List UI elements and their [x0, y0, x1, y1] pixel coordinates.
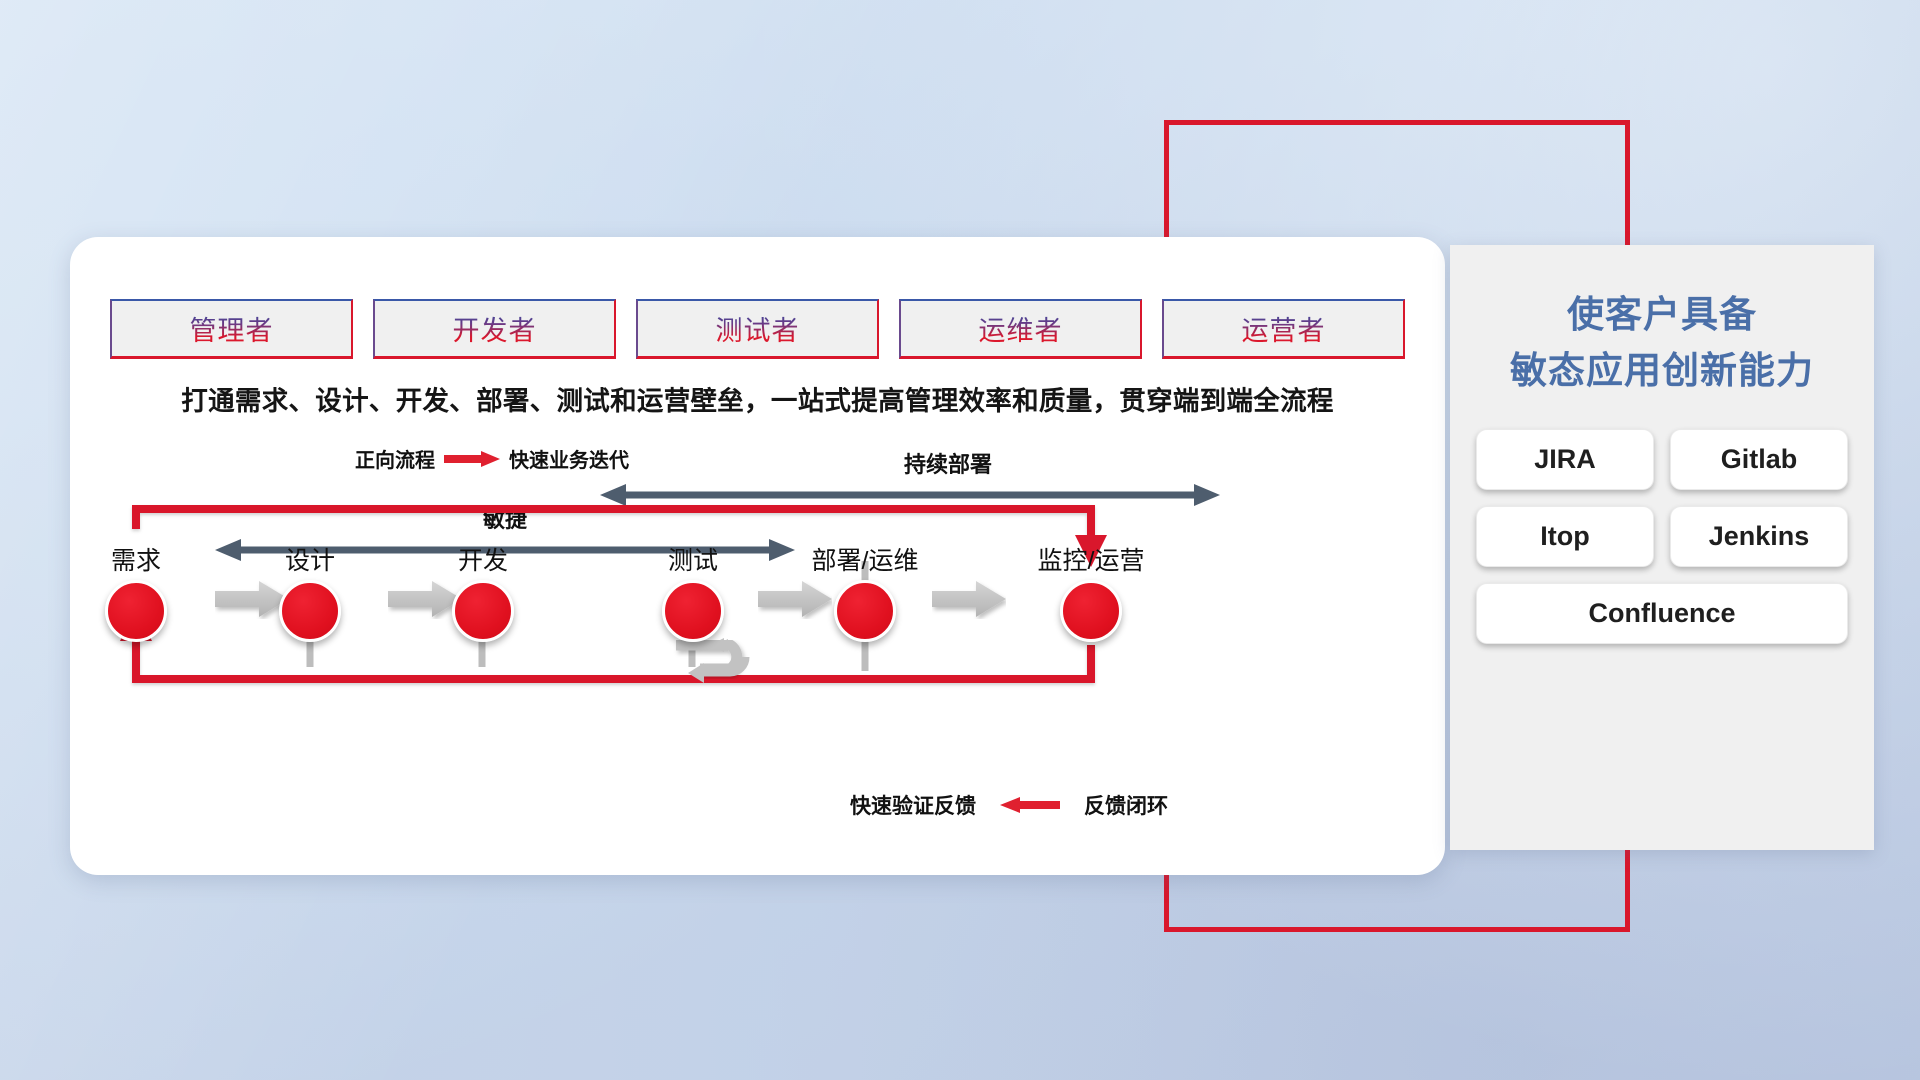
red-arrow-left-icon	[1000, 797, 1060, 813]
panel-title-line1: 使客户具备	[1476, 287, 1848, 343]
flow-node-label: 部署/运维	[810, 541, 920, 577]
flow-node-circle	[834, 580, 896, 642]
flow-node-requirement[interactable]: 需求	[81, 541, 191, 642]
flow-node-label: 开发	[428, 541, 538, 577]
flow-node-development[interactable]: 开发	[428, 541, 538, 642]
gray-arrow-4-icon	[932, 579, 1006, 619]
tool-chip-list: JIRA Gitlab Itop Jenkins Confluence	[1476, 429, 1848, 644]
flow-node-circle	[105, 580, 167, 642]
tool-chip-confluence[interactable]: Confluence	[1476, 583, 1848, 644]
capability-panel: 使客户具备 敏态应用创新能力 JIRA Gitlab Itop Jenkins …	[1450, 245, 1874, 850]
flow-node-design[interactable]: 设计	[255, 541, 365, 642]
flow-node-label: 设计	[255, 541, 365, 577]
flow-node-circle	[279, 580, 341, 642]
flow-node-label: 测试	[638, 541, 748, 577]
flow-node-label: 需求	[81, 541, 191, 577]
feedback-loop-legend: 快速验证反馈 反馈闭环	[850, 790, 1168, 820]
tool-chip-itop[interactable]: Itop	[1476, 506, 1654, 567]
tool-chip-jira[interactable]: JIRA	[1476, 429, 1654, 490]
flow-node-testing[interactable]: 测试	[638, 541, 748, 642]
flow-node-deploy-ops[interactable]: 部署/运维	[810, 541, 920, 642]
tool-chip-jenkins[interactable]: Jenkins	[1670, 506, 1848, 567]
flow-node-circle	[452, 580, 514, 642]
flow-node-circle	[662, 580, 724, 642]
feedback-source-label: 反馈闭环	[1084, 790, 1168, 820]
flow-node-monitor-operations[interactable]: 监控/运营	[1036, 541, 1146, 642]
uturn-loop-arrow-icon	[670, 636, 762, 694]
tool-chip-gitlab[interactable]: Gitlab	[1670, 429, 1848, 490]
feedback-target-label: 快速验证反馈	[850, 790, 976, 820]
flow-node-label: 监控/运营	[1036, 541, 1146, 577]
panel-title-line2: 敏态应用创新能力	[1476, 343, 1848, 399]
flow-node-circle	[1060, 580, 1122, 642]
devops-flow-card: 管理者 开发者 测试者 运维者 运营者 打通需求、设计、开发、部署、测试和运营壁…	[70, 237, 1445, 875]
pipeline-flow: 需求 设计 开发	[70, 237, 1445, 875]
